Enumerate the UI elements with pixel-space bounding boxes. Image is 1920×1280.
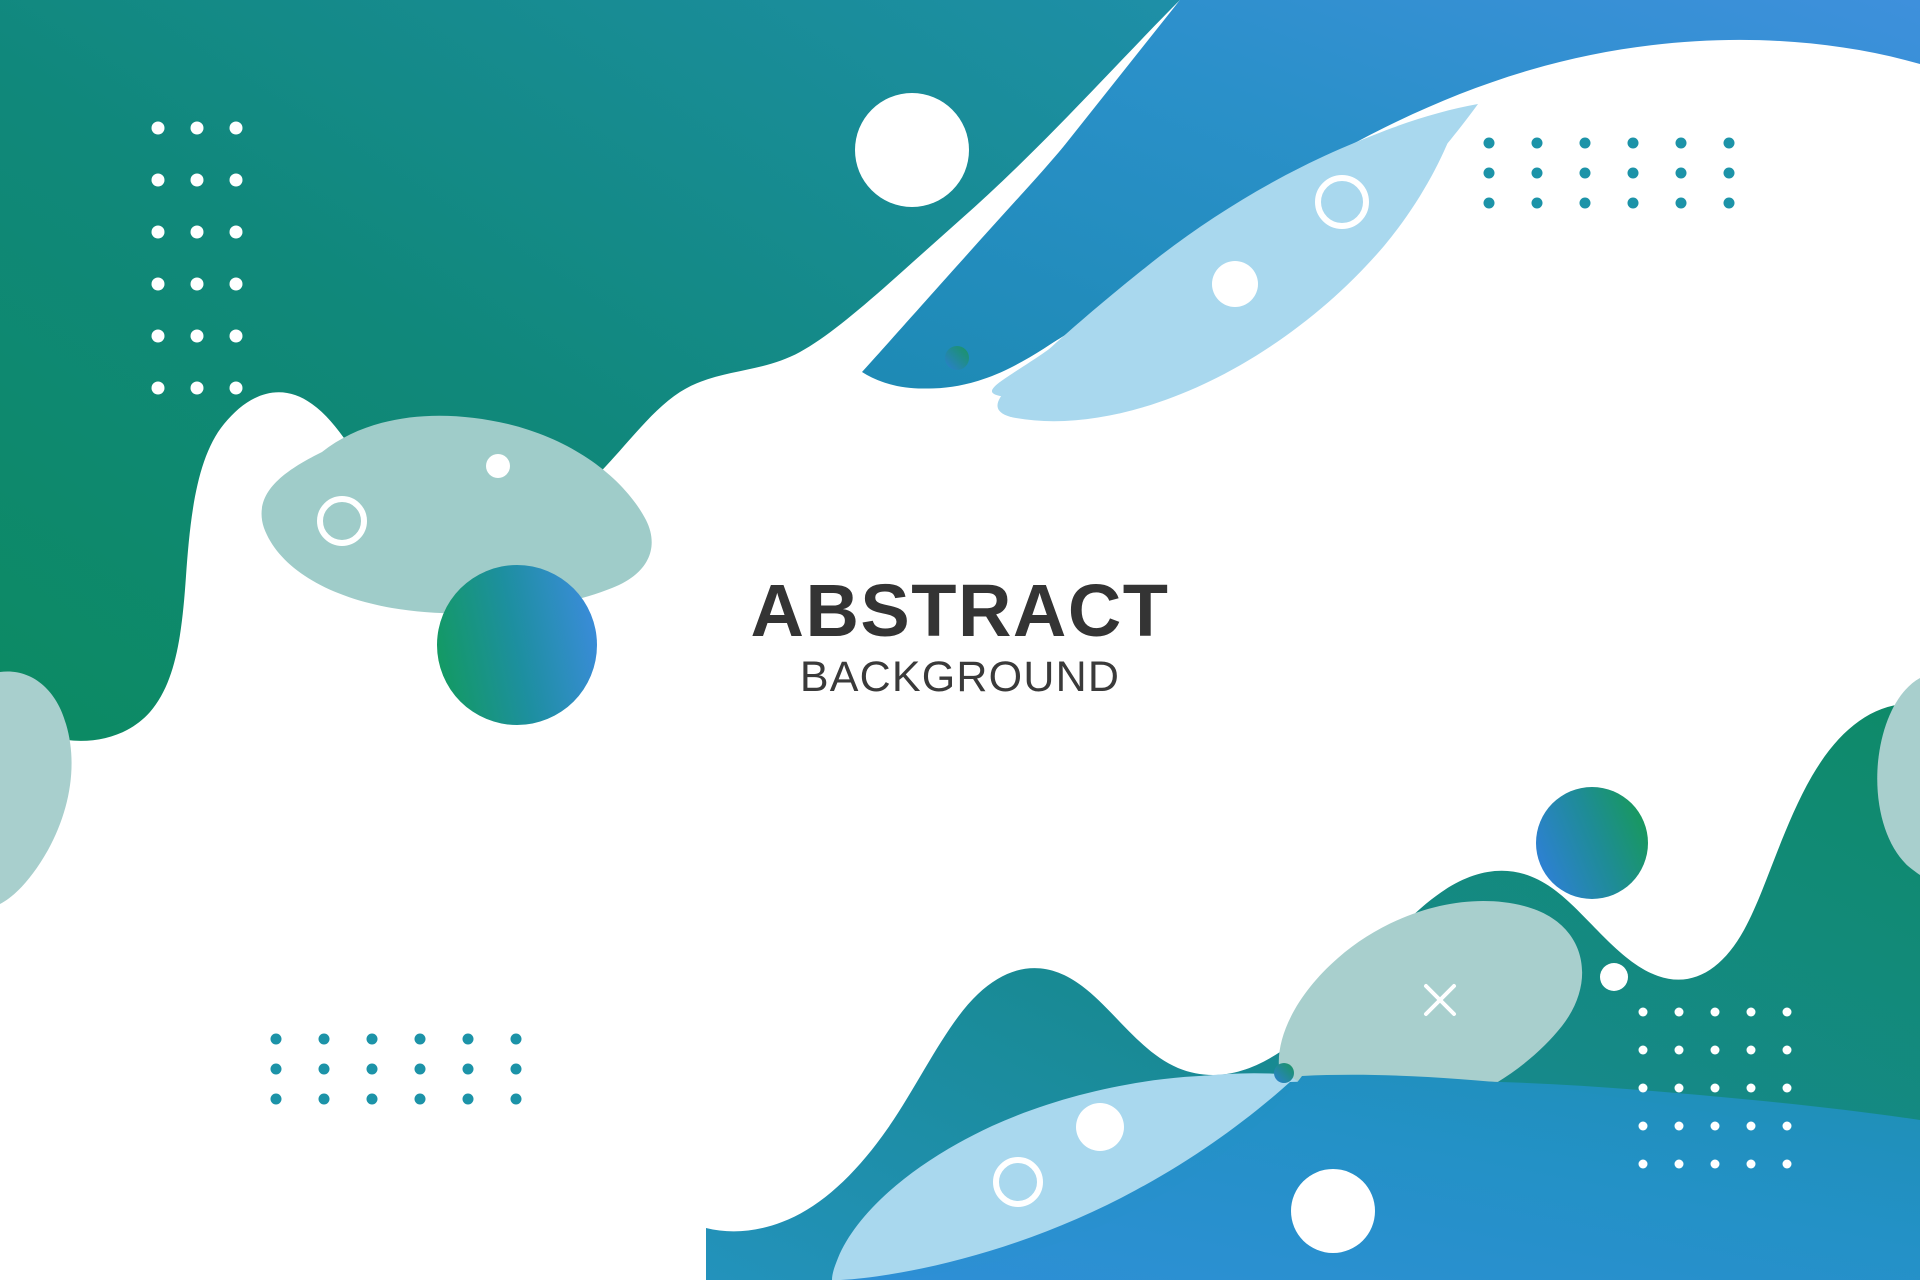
white-circle-top [855, 93, 969, 207]
dot [463, 1094, 474, 1105]
dot [1711, 1046, 1720, 1055]
dot [1711, 1084, 1720, 1093]
dot [1747, 1160, 1756, 1169]
white-circle-bottom-blue [1076, 1103, 1124, 1151]
dot [191, 226, 204, 239]
dot [1747, 1122, 1756, 1131]
dot [415, 1064, 426, 1075]
gradient-sphere-bottom-right [1536, 787, 1648, 899]
dot [271, 1094, 282, 1105]
white-circle-light-blue [1212, 261, 1258, 307]
dot [511, 1094, 522, 1105]
dot [1639, 1084, 1648, 1093]
dot [1724, 138, 1735, 149]
dot [152, 382, 165, 395]
dot [1783, 1046, 1792, 1055]
dot [1747, 1008, 1756, 1017]
dot [367, 1034, 378, 1045]
dot [1724, 168, 1735, 179]
dot [1724, 198, 1735, 209]
dot [191, 330, 204, 343]
dot [1484, 138, 1495, 149]
dot [1628, 168, 1639, 179]
dot [415, 1034, 426, 1045]
dot [1783, 1084, 1792, 1093]
dot [191, 122, 204, 135]
dot [1484, 168, 1495, 179]
white-ring-bottom-right [1698, 908, 1738, 948]
white-circle-bottom-teal [1291, 1169, 1375, 1253]
dot [1675, 1122, 1684, 1131]
decorative-artwork [0, 0, 1920, 1280]
white-circle-mint-left [486, 454, 510, 478]
dot [1675, 1084, 1684, 1093]
dots-top-right [1484, 138, 1735, 209]
dot [152, 278, 165, 291]
gradient-pebble-center [945, 346, 969, 370]
dot [230, 174, 243, 187]
dot [1675, 1046, 1684, 1055]
dot [230, 382, 243, 395]
dot [152, 330, 165, 343]
dot [1676, 168, 1687, 179]
cross-mark-group [712, 412, 1454, 1014]
dot [1639, 1008, 1648, 1017]
dot [1783, 1008, 1792, 1017]
gradient-pebble-bottom [1274, 1063, 1294, 1083]
dot [1675, 1160, 1684, 1169]
dot [1711, 1122, 1720, 1131]
dot [1783, 1122, 1792, 1131]
dot [511, 1064, 522, 1075]
dot [230, 226, 243, 239]
dot [1628, 138, 1639, 149]
white-circle-bottom-mint [1600, 963, 1628, 991]
dot [230, 330, 243, 343]
dot [1532, 168, 1543, 179]
dot [1484, 198, 1495, 209]
dot [319, 1064, 330, 1075]
dot [1532, 138, 1543, 149]
dot [1676, 138, 1687, 149]
dot [1747, 1084, 1756, 1093]
dot [1580, 168, 1591, 179]
dot [1711, 1160, 1720, 1169]
dot [1532, 198, 1543, 209]
dot [230, 278, 243, 291]
dot [463, 1064, 474, 1075]
dot [1675, 1008, 1684, 1017]
dot [1639, 1046, 1648, 1055]
dot [1580, 138, 1591, 149]
dot [367, 1094, 378, 1105]
dot [152, 226, 165, 239]
dot [1747, 1046, 1756, 1055]
dot [1639, 1122, 1648, 1131]
dot [463, 1034, 474, 1045]
dot [511, 1034, 522, 1045]
dot [1639, 1160, 1648, 1169]
dot [152, 122, 165, 135]
dot [230, 122, 243, 135]
dots-bottom-left [271, 1034, 522, 1105]
dot [1580, 198, 1591, 209]
gradient-sphere-left [437, 565, 597, 725]
white-cross-center [712, 412, 746, 446]
dot [1783, 1160, 1792, 1169]
dot [152, 174, 165, 187]
dot [1676, 198, 1687, 209]
dot [191, 278, 204, 291]
dot [1628, 198, 1639, 209]
dot [191, 174, 204, 187]
dot [319, 1034, 330, 1045]
abstract-background-poster: ABSTRACT BACKGROUND [0, 0, 1920, 1280]
dot [415, 1094, 426, 1105]
dot [271, 1034, 282, 1045]
dot [367, 1064, 378, 1075]
dot [319, 1094, 330, 1105]
dot [191, 382, 204, 395]
dot [271, 1064, 282, 1075]
dot [1711, 1008, 1720, 1017]
